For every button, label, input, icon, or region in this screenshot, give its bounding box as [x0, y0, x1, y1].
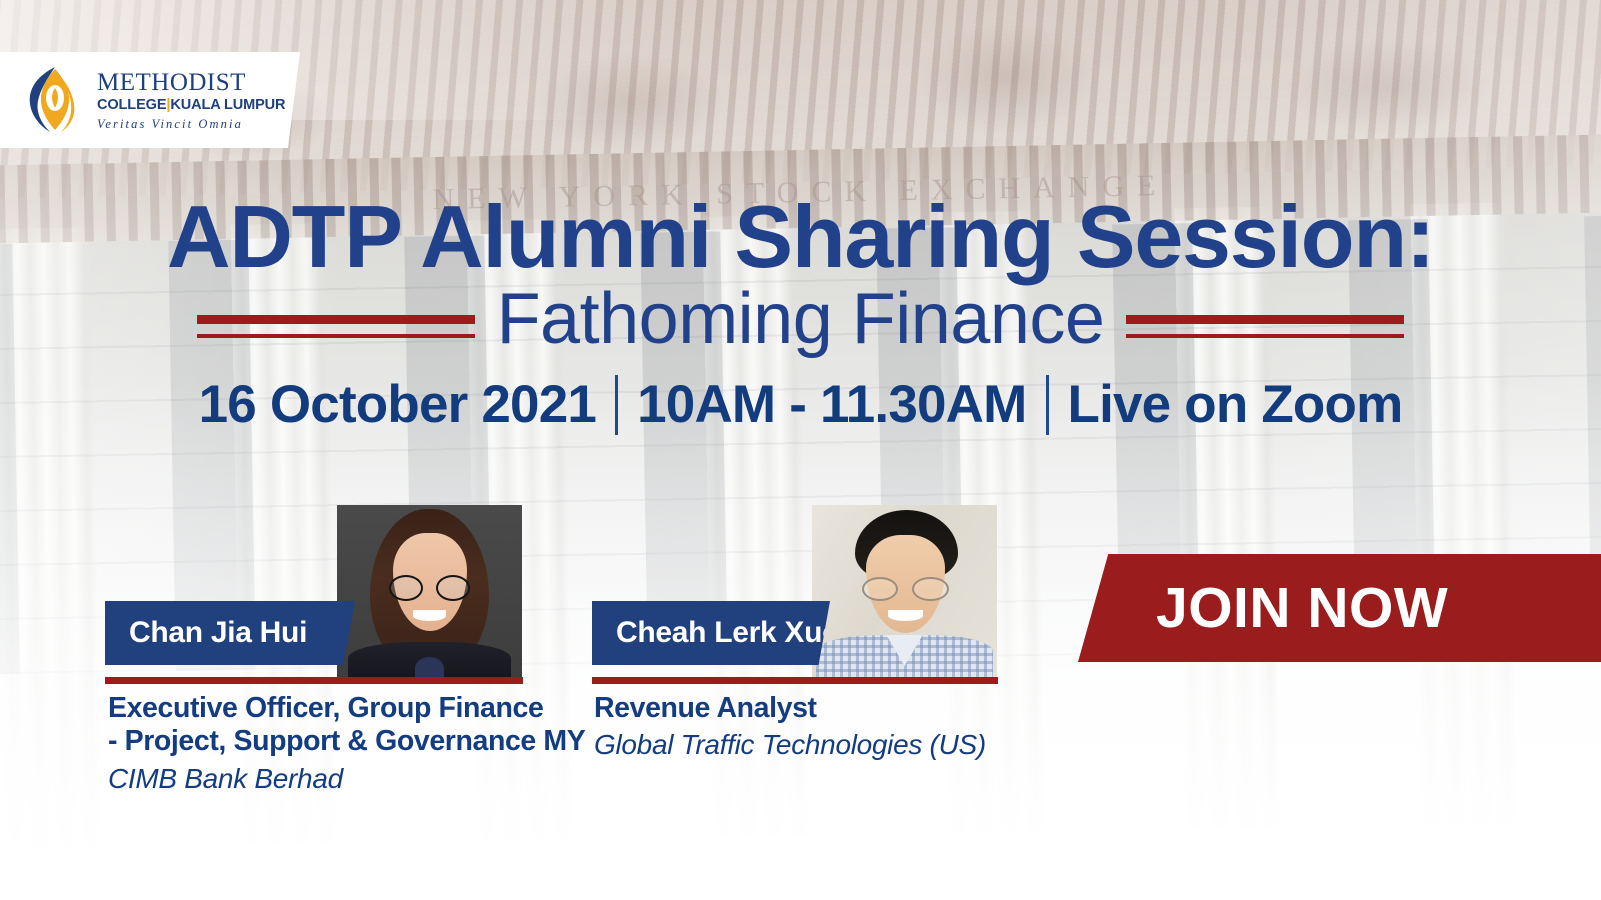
rule-left-thick: [197, 315, 475, 324]
portrait-smile: [413, 610, 446, 621]
speaker-nameplate-2: Cheah Lerk Xue: [592, 601, 830, 665]
college-logo: METHODIST COLLEGE|KUALA LUMPUR Veritas V…: [0, 52, 300, 148]
logo-line-methodist: METHODIST: [97, 70, 285, 95]
speaker-role-1-line-2: - Project, Support & Governance MY: [108, 725, 628, 758]
portrait-glasses: [862, 577, 949, 602]
flame-logo-icon: [22, 64, 88, 136]
event-date: 16 October 2021: [199, 374, 597, 435]
rule-right-thin: [1126, 334, 1404, 338]
detail-separator-2: [1046, 375, 1049, 435]
decorative-rule-right: [1126, 296, 1404, 342]
college-logo-text: METHODIST COLLEGE|KUALA LUMPUR Veritas V…: [97, 70, 285, 130]
logo-kuala-lumpur-word: KUALA LUMPUR: [170, 97, 285, 113]
event-subtitle: Fathoming Finance: [475, 278, 1127, 360]
join-now-label: JOIN NOW: [1078, 575, 1448, 641]
event-promo-banner: NEW YORK STOCK EXCHANGE METHODIST COLLEG…: [0, 0, 1601, 900]
speaker-photo-chan-jia-hui: [337, 505, 522, 680]
speaker-name-2: Cheah Lerk Xue: [616, 616, 839, 650]
rule-left-thin: [197, 334, 475, 338]
event-subtitle-row: Fathoming Finance: [0, 278, 1601, 360]
decorative-rule-left: [197, 296, 475, 342]
event-title: ADTP Alumni Sharing Session:: [0, 186, 1601, 288]
speaker-role-1-line-1: Executive Officer, Group Finance: [108, 692, 628, 725]
speaker-divider-1: [105, 677, 523, 684]
speaker-role-2-line-1: Revenue Analyst: [594, 692, 1114, 725]
speaker-nameplate-1: Chan Jia Hui: [105, 601, 355, 665]
speaker-name-1: Chan Jia Hui: [129, 616, 307, 650]
detail-separator-1: [615, 375, 618, 435]
speaker-organisation-1: CIMB Bank Berhad: [108, 763, 628, 795]
speaker-details-2: Revenue Analyst Global Traffic Technolog…: [594, 692, 1114, 761]
speaker-organisation-2: Global Traffic Technologies (US): [594, 729, 1114, 761]
event-time: 10AM - 11.30AM: [637, 374, 1026, 435]
logo-motto: Veritas Vincit Omnia: [97, 118, 285, 131]
join-now-button[interactable]: JOIN NOW: [1078, 554, 1601, 662]
logo-college-word: COLLEGE: [97, 97, 166, 113]
logo-line-college-kl: COLLEGE|KUALA LUMPUR: [97, 98, 285, 113]
rule-right-thick: [1126, 315, 1404, 324]
speaker-details-1: Executive Officer, Group Finance - Proje…: [108, 692, 628, 795]
event-platform: Live on Zoom: [1068, 374, 1403, 435]
event-details-row: 16 October 2021 10AM - 11.30AM Live on Z…: [0, 374, 1601, 435]
speaker-photo-cheah-lerk-xue: [812, 505, 997, 680]
portrait-glasses: [389, 575, 470, 601]
portrait-smile: [888, 610, 923, 621]
speaker-divider-2: [592, 677, 998, 684]
